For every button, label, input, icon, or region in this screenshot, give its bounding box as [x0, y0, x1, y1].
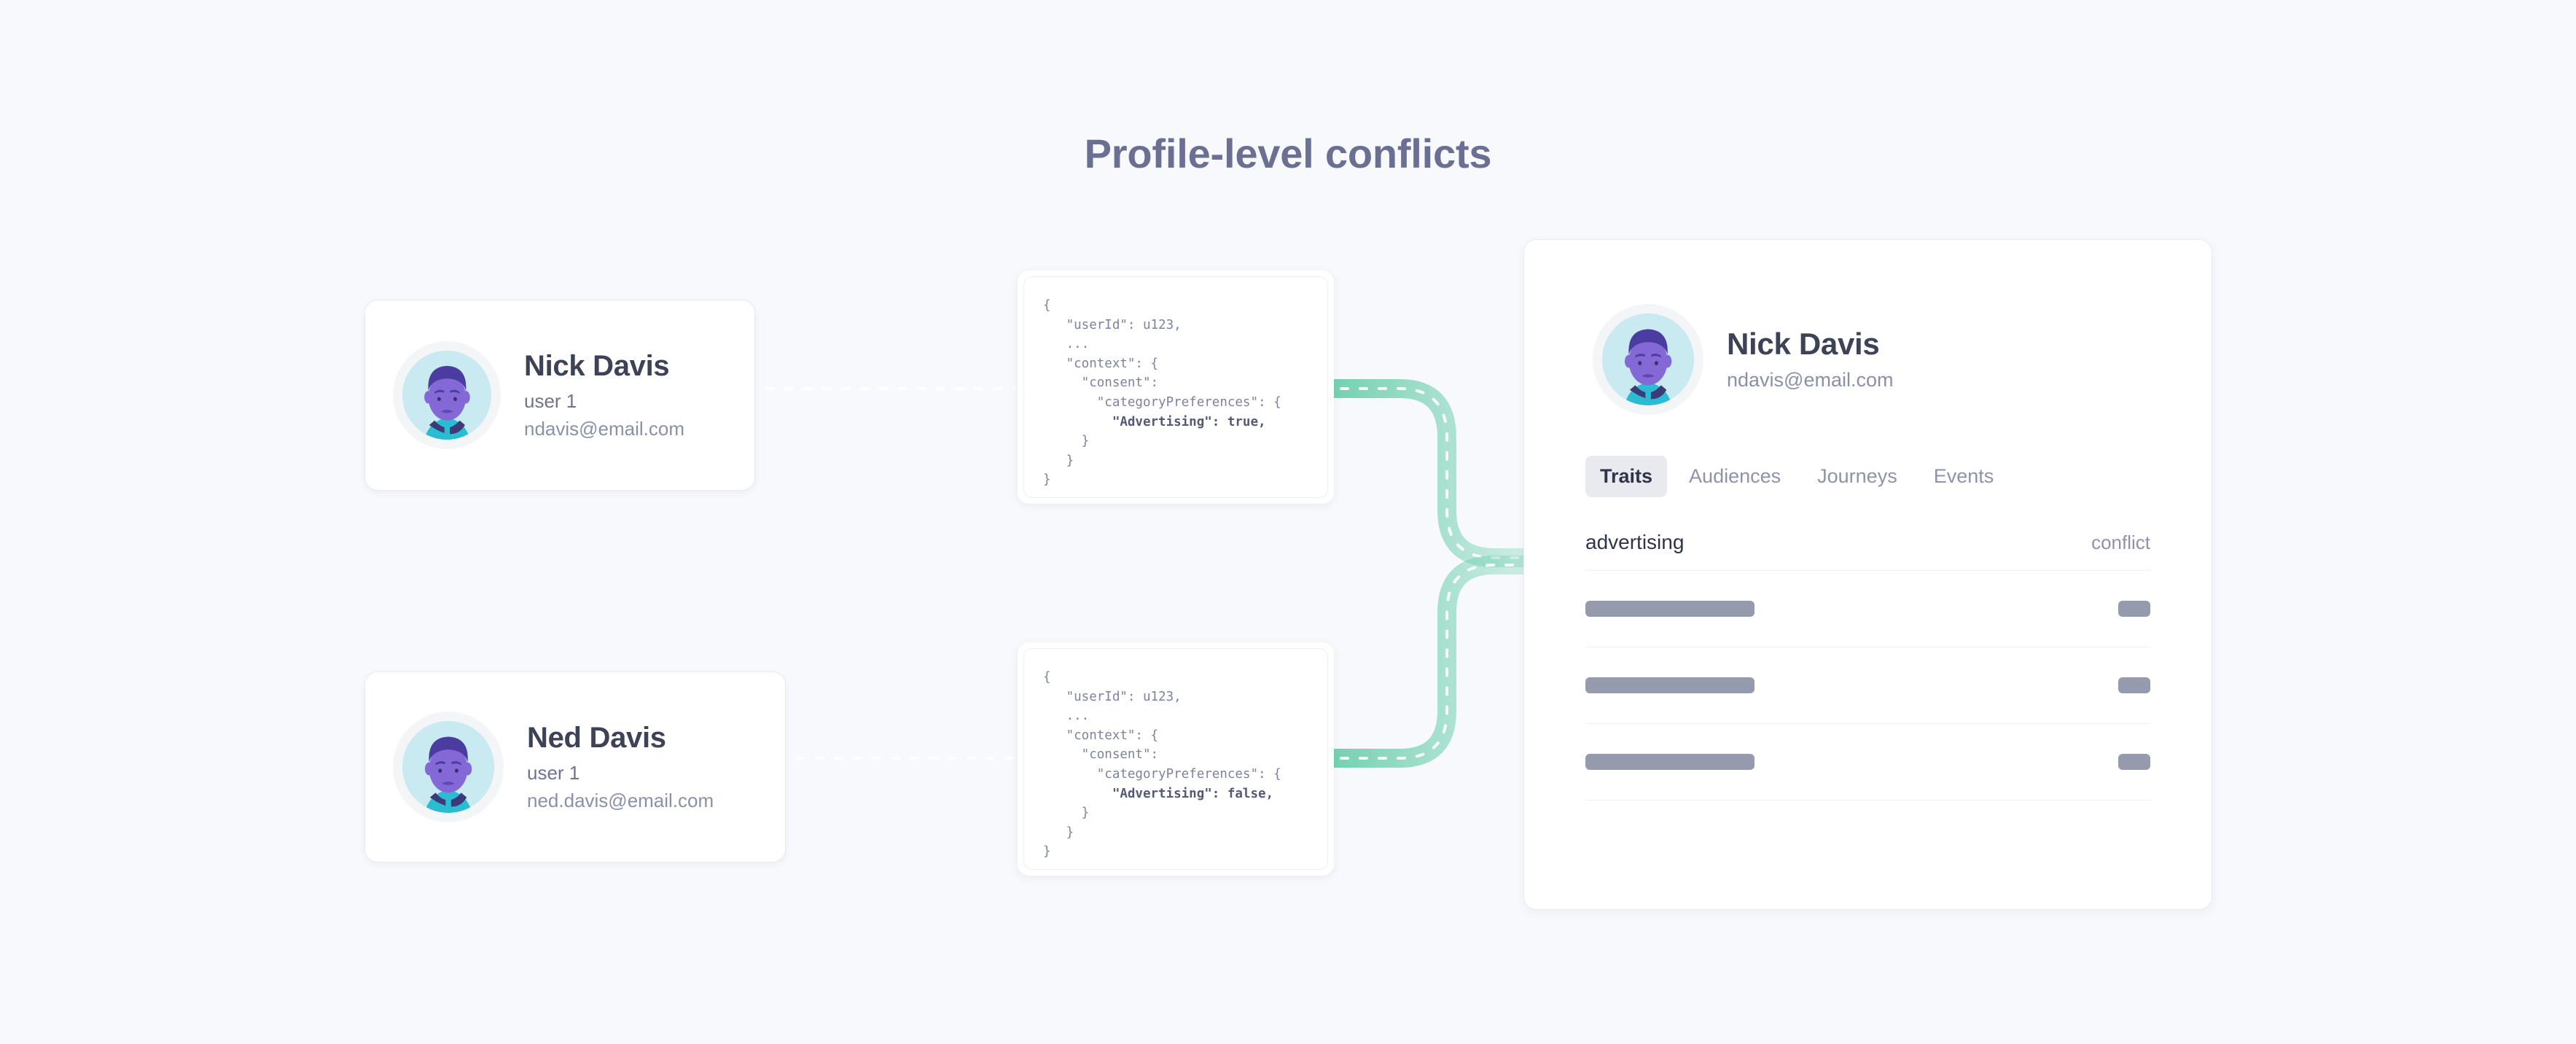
unified-profile-panel: Nick Davis ndavis@email.com Traits Audie… [1523, 239, 2212, 910]
payload-code-card: { "userId": u123, ... "context": { "cons… [1018, 270, 1334, 504]
traits-table: advertising conflict [1524, 497, 2212, 800]
payload-code-inner: { "userId": u123, ... "context": { "cons… [1023, 276, 1328, 498]
profile-email: ned.davis@email.com [527, 790, 714, 812]
payload-code-inner: { "userId": u123, ... "context": { "cons… [1023, 648, 1328, 870]
connector-payload1-to-profile [1334, 389, 1525, 558]
trait-key: advertising [1585, 531, 1684, 554]
source-profile-card[interactable]: Nick Davis user 1 ndavis@email.com [364, 300, 755, 491]
page-title: Profile-level conflicts [0, 130, 2576, 177]
profile-name: Nick Davis [1727, 327, 1894, 361]
profile-name: Ned Davis [527, 722, 714, 755]
skeleton-bar [1585, 601, 1755, 617]
connector-payload2-to-profile [1334, 565, 1525, 758]
skeleton-bar [1585, 754, 1755, 770]
trait-header-row: advertising conflict [1585, 531, 2150, 571]
profile-email: ndavis@email.com [1727, 368, 1894, 391]
table-row [1585, 724, 2150, 800]
skeleton-pill [2118, 677, 2150, 693]
avatar [393, 341, 501, 449]
payload-code-highlight: "Advertising": false, [1043, 787, 1273, 801]
payload-code-block: { "userId": u123, ... "context": { "cons… [1043, 296, 1327, 490]
profile-name: Nick Davis [524, 350, 684, 383]
avatar [393, 712, 504, 822]
skeleton-bar [1585, 677, 1755, 693]
unified-profile-text: Nick Davis ndavis@email.com [1727, 327, 1894, 391]
payload-code-closing: } } } [1043, 434, 1089, 487]
avatar [1593, 304, 1703, 415]
profile-label: user 1 [524, 390, 684, 413]
avatar-person-icon [402, 351, 492, 440]
payload-code-lines: { "userId": u123, ... "context": { "cons… [1043, 670, 1281, 782]
profile-tabs: Traits Audiences Journeys Events [1524, 415, 2212, 497]
tab-journeys[interactable]: Journeys [1803, 456, 1912, 497]
table-row [1585, 571, 2150, 647]
payload-code-card: { "userId": u123, ... "context": { "cons… [1018, 642, 1334, 876]
avatar-person-icon [1602, 313, 1694, 405]
skeleton-pill [2118, 601, 2150, 617]
profile-label: user 1 [527, 762, 714, 784]
source-profile-card[interactable]: Ned Davis user 1 ned.davis@email.com [364, 671, 786, 862]
profile-text: Ned Davis user 1 ned.davis@email.com [527, 722, 714, 812]
avatar-person-icon [402, 721, 494, 813]
profile-email: ndavis@email.com [524, 418, 684, 440]
trait-status-badge: conflict [2091, 531, 2150, 554]
skeleton-pill [2118, 754, 2150, 770]
tab-audiences[interactable]: Audiences [1674, 456, 1795, 497]
table-row [1585, 647, 2150, 724]
tab-events[interactable]: Events [1919, 456, 2009, 497]
profile-text: Nick Davis user 1 ndavis@email.com [524, 350, 684, 440]
tab-traits[interactable]: Traits [1585, 456, 1667, 497]
payload-code-lines: { "userId": u123, ... "context": { "cons… [1043, 298, 1281, 410]
payload-code-block: { "userId": u123, ... "context": { "cons… [1043, 668, 1327, 862]
payload-code-highlight: "Advertising": true, [1043, 415, 1266, 429]
unified-profile-header: Nick Davis ndavis@email.com [1524, 240, 2212, 415]
payload-code-closing: } } } [1043, 806, 1089, 859]
